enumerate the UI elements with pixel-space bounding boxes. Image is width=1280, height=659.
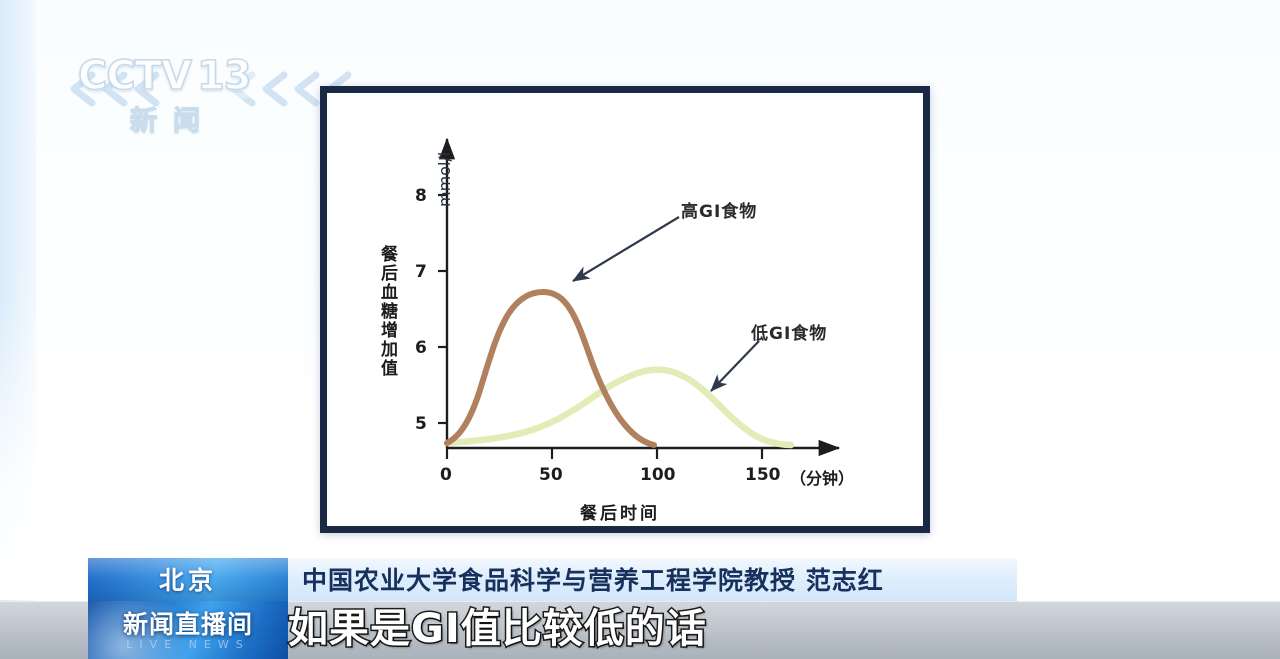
channel-logo-text: CCTV13 — [78, 53, 257, 99]
blood-glucose-line-chart — [327, 93, 923, 526]
location-label: 北京 — [88, 558, 288, 603]
x-tick-label-50: 50 — [539, 465, 563, 485]
x-tick-label-0: 0 — [440, 465, 452, 485]
y-axis-ticks — [438, 195, 447, 423]
low-gi-annotation-label: 低GI食物 — [751, 319, 827, 344]
y-axis-title: 餐后血糖增加值 — [375, 245, 400, 378]
x-axis-unit-label: （分钟） — [790, 465, 854, 489]
x-tick-label-100: 100 — [640, 465, 676, 485]
program-subname-label: LIVE NEWS — [88, 638, 288, 651]
x-tick-label-150: 150 — [745, 465, 781, 485]
y-tick-label-6: 6 — [415, 338, 427, 358]
guest-band: 北京 中国农业大学食品科学与营养工程学院教授 范志红 — [88, 558, 1017, 603]
channel-logo-subtitle: 新闻 — [130, 99, 216, 138]
cctv-wordmark: CCTV — [78, 53, 191, 99]
program-badge: 新闻直播间 LIVE NEWS — [88, 601, 288, 659]
channel-number: 13 — [191, 53, 257, 99]
low-gi-curve — [447, 370, 791, 445]
y-tick-label-7: 7 — [415, 262, 427, 282]
high-gi-annotation-label: 高GI食物 — [681, 197, 757, 222]
broadcast-screen: CCTV13 新闻 — [0, 0, 1280, 659]
chart-panel: mmol/l 餐后血糖增加值 8 7 6 5 0 50 100 150 （分钟）… — [327, 93, 923, 526]
lower-third: 北京 中国农业大学食品科学与营养工程学院教授 范志红 新闻直播间 LIVE NE… — [0, 556, 1280, 659]
x-axis-ticks — [447, 448, 762, 459]
program-name-label: 新闻直播间 — [88, 605, 288, 641]
y-tick-label-5: 5 — [415, 414, 427, 434]
x-axis-title: 餐后时间 — [580, 499, 660, 524]
guest-title-label: 中国农业大学食品科学与营养工程学院教授 范志红 — [302, 558, 884, 603]
channel-logo: CCTV13 新闻 — [70, 55, 350, 137]
high-gi-annotation-arrow — [573, 217, 679, 281]
low-gi-annotation-arrow — [711, 341, 759, 391]
subtitle-text: 如果是GI值比较低的话 — [288, 601, 707, 659]
y-tick-label-8: 8 — [415, 186, 427, 206]
y-axis-unit-label: mmol/l — [435, 152, 454, 207]
chart-frame: mmol/l 餐后血糖增加值 8 7 6 5 0 50 100 150 （分钟）… — [320, 86, 930, 533]
